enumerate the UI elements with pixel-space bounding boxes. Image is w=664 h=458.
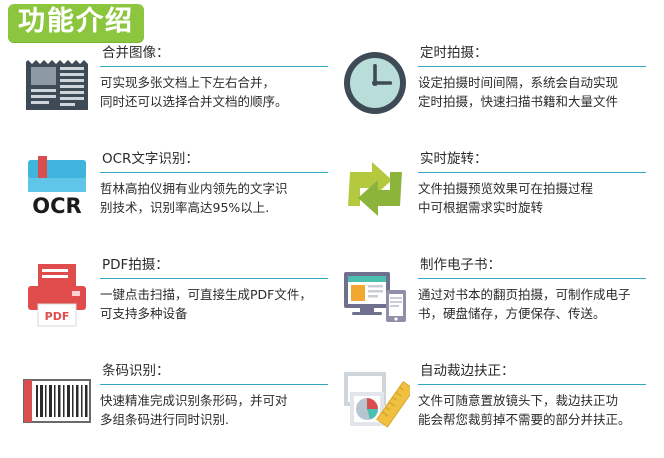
desc-line: 中可根据需求实时旋转 (418, 198, 652, 217)
desc-line: 哲林高拍仪拥有业内领先的文字识 (100, 179, 334, 198)
feature-barcode-text: 条码识别： 快速精准完成识别条形码，并可对 多组条码进行同时识别. (100, 362, 334, 429)
feature-merge-title: 合并图像： (102, 44, 334, 62)
feature-crop: 自动裁边扶正： 文件可随意置放镜头下，裁边扶正功 能会帮您裁剪掉不需要的部分并扶… (340, 362, 652, 458)
desc-line: 文件可随意置放镜头下，裁边扶正功 (418, 391, 652, 410)
feature-ocr: OCR OCR文字识别： 哲林高拍仪拥有业内领先的文字识 别技术，识别率高达95… (22, 150, 334, 246)
feature-pdf-text: PDF拍摄： 一键点击扫描，可直接生成PDF文件， 可支持多种设备 (100, 256, 334, 323)
feature-merge-text: 合并图像： 可实现多张文档上下左右合并， 同时还可以选择合并文档的顺序。 (100, 44, 334, 111)
divider (418, 278, 646, 279)
monitor-ebook-icon (340, 260, 410, 330)
divider (418, 384, 646, 385)
feature-ebook-title: 制作电子书： (420, 256, 652, 274)
divider (418, 172, 646, 173)
divider (100, 66, 328, 67)
page-header: 功能介绍 (8, 4, 183, 44)
desc-line: 快速精准完成识别条形码，并可对 (100, 391, 334, 410)
feature-merge-desc: 可实现多张文档上下左右合并， 同时还可以选择合并文档的顺序。 (100, 73, 334, 111)
feature-ocr-desc: 哲林高拍仪拥有业内领先的文字识 别技术，识别率高达95%以上. (100, 179, 334, 217)
page-title: 功能介绍 (18, 7, 134, 37)
feature-merge: 合并图像： 可实现多张文档上下左右合并， 同时还可以选择合并文档的顺序。 (22, 44, 334, 140)
desc-line: 书，硬盘储存，方便保存、传送。 (418, 304, 652, 323)
feature-pdf: PDF PDF拍摄： 一键点击扫描，可直接生成PDF文件， 可支持多种设备 (22, 256, 334, 352)
desc-line: 可实现多张文档上下左右合并， (100, 73, 334, 92)
feature-rotate: 实时旋转： 文件拍摄预览效果可在拍摄过程 中可根据需求实时旋转 (340, 150, 652, 246)
feature-rotate-desc: 文件拍摄预览效果可在拍摄过程 中可根据需求实时旋转 (418, 179, 652, 217)
desc-line: 文件拍摄预览效果可在拍摄过程 (418, 179, 652, 198)
merge-images-icon (22, 48, 92, 118)
divider (418, 66, 646, 67)
feature-ebook-text: 制作电子书： 通过对书本的翻页拍摄，可制作成电子 书，硬盘储存，方便保存、传送。 (418, 256, 652, 323)
desc-line: 别技术，识别率高达95%以上. (100, 198, 334, 217)
feature-barcode-desc: 快速精准完成识别条形码，并可对 多组条码进行同时识别. (100, 391, 334, 429)
header-badge: 功能介绍 (8, 4, 144, 42)
feature-pdf-desc: 一键点击扫描，可直接生成PDF文件， 可支持多种设备 (100, 285, 334, 323)
desc-line: 多组条码进行同时识别. (100, 410, 334, 429)
feature-rotate-text: 实时旋转： 文件拍摄预览效果可在拍摄过程 中可根据需求实时旋转 (418, 150, 652, 217)
feature-timer-title: 定时拍摄： (420, 44, 652, 62)
auto-crop-icon (340, 366, 410, 436)
desc-line: 能会帮您裁剪掉不需要的部分并扶正。 (418, 410, 652, 429)
svg-text:PDF: PDF (45, 310, 70, 323)
feature-barcode: 条码识别： 快速精准完成识别条形码，并可对 多组条码进行同时识别. (22, 362, 334, 458)
feature-crop-text: 自动裁边扶正： 文件可随意置放镜头下，裁边扶正功 能会帮您裁剪掉不需要的部分并扶… (418, 362, 652, 429)
feature-crop-desc: 文件可随意置放镜头下，裁边扶正功 能会帮您裁剪掉不需要的部分并扶正。 (418, 391, 652, 429)
desc-line: 同时还可以选择合并文档的顺序。 (100, 92, 334, 111)
feature-timer-desc: 设定拍摄时间间隔，系统会自动实现 定时拍摄，快速扫描书籍和大量文件 (418, 73, 652, 111)
desc-line: 可支持多种设备 (100, 304, 334, 323)
svg-text:OCR: OCR (32, 194, 81, 218)
feature-crop-title: 自动裁边扶正： (420, 362, 652, 380)
barcode-icon (22, 366, 92, 436)
desc-line: 定时拍摄，快速扫描书籍和大量文件 (418, 92, 652, 111)
pdf-printer-icon: PDF (22, 260, 92, 330)
feature-ebook-desc: 通过对书本的翻页拍摄，可制作成电子 书，硬盘储存，方便保存、传送。 (418, 285, 652, 323)
feature-ocr-title: OCR文字识别： (102, 150, 334, 168)
feature-pdf-title: PDF拍摄： (102, 256, 334, 274)
clock-icon (340, 48, 410, 118)
refresh-rotate-icon (340, 154, 410, 224)
feature-ocr-text: OCR文字识别： 哲林高拍仪拥有业内领先的文字识 别技术，识别率高达95%以上. (100, 150, 334, 217)
desc-line: 一键点击扫描，可直接生成PDF文件， (100, 285, 334, 304)
feature-barcode-title: 条码识别： (102, 362, 334, 380)
feature-ebook: 制作电子书： 通过对书本的翻页拍摄，可制作成电子 书，硬盘储存，方便保存、传送。 (340, 256, 652, 352)
divider (100, 278, 328, 279)
feature-timer: 定时拍摄： 设定拍摄时间间隔，系统会自动实现 定时拍摄，快速扫描书籍和大量文件 (340, 44, 652, 140)
desc-line: 通过对书本的翻页拍摄，可制作成电子 (418, 285, 652, 304)
feature-timer-text: 定时拍摄： 设定拍摄时间间隔，系统会自动实现 定时拍摄，快速扫描书籍和大量文件 (418, 44, 652, 111)
feature-rotate-title: 实时旋转： (420, 150, 652, 168)
ocr-icon: OCR (22, 154, 92, 224)
divider (100, 172, 328, 173)
desc-line: 设定拍摄时间间隔，系统会自动实现 (418, 73, 652, 92)
divider (100, 384, 328, 385)
